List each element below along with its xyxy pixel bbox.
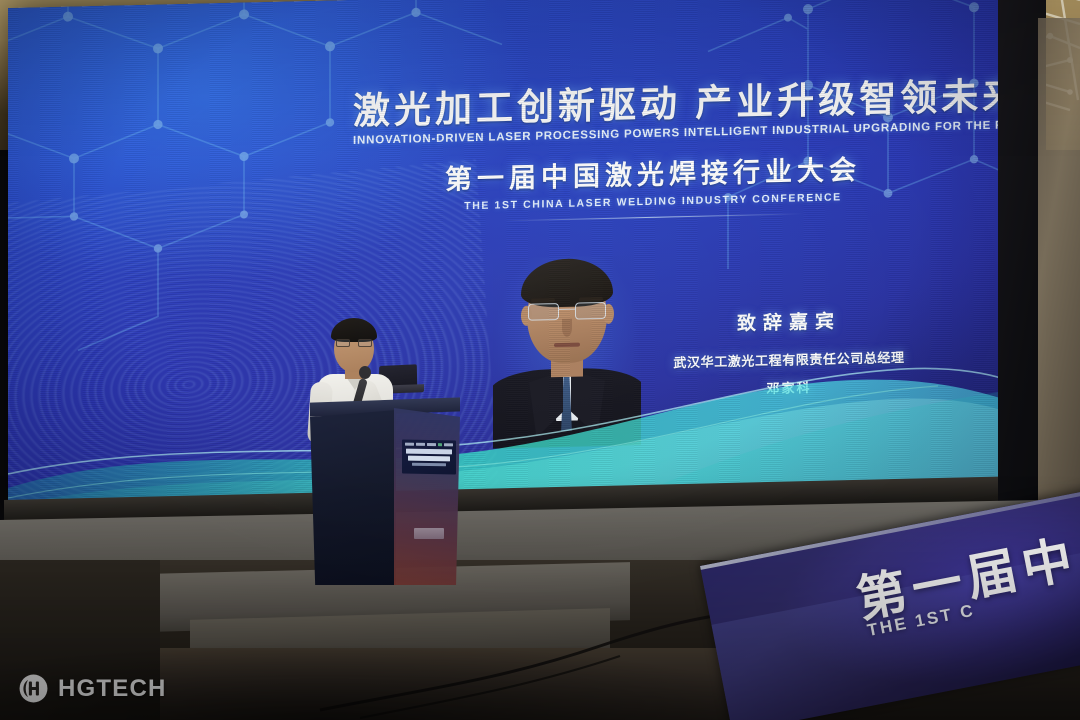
- screen-title-block: 激光加工创新驱动 产业升级智领未来 INNOVATION-DRIVEN LASE…: [353, 78, 953, 225]
- sponsor-logo-accent: [438, 443, 442, 446]
- led-stage-screen: 激光加工创新驱动 产业升级智领未来 INNOVATION-DRIVEN LASE…: [8, 0, 1008, 520]
- podium-body-left: [310, 410, 396, 585]
- speaker-role-label: 致辞嘉宾: [653, 304, 925, 337]
- conference-photo-scene: 激光加工创新驱动 产业升级智领未来 INNOVATION-DRIVEN LASE…: [0, 0, 1080, 720]
- podium: [310, 400, 460, 585]
- sponsor-logo: [405, 443, 414, 446]
- hgtech-logo-icon: [18, 673, 49, 704]
- presenter-lens-right: [358, 339, 372, 347]
- podium-sponsor-logo-strip: [405, 442, 453, 447]
- portrait-mouth: [554, 343, 580, 348]
- podium-lower-mark: [414, 528, 444, 539]
- microphone-head: [359, 366, 371, 379]
- sponsor-logo: [427, 443, 436, 446]
- right-beige-column: [1038, 18, 1080, 563]
- podium-body-right: [394, 408, 460, 585]
- podium-banner-line-slogan: [406, 449, 452, 454]
- podium-banner-line-title: [408, 456, 450, 462]
- presenter-lens-left: [336, 339, 350, 347]
- hgtech-watermark: HGTECH: [18, 673, 167, 704]
- podium-banner: [402, 440, 456, 475]
- sponsor-logo: [416, 443, 425, 446]
- glasses-lens-right: [575, 302, 606, 320]
- portrait-eyebrow-left: [531, 298, 555, 303]
- presenter-glasses-icon: [336, 339, 373, 347]
- hgtech-brand-text: HGTECH: [58, 675, 167, 703]
- glasses-bridge: [559, 309, 575, 311]
- portrait-eyebrow-right: [579, 297, 603, 302]
- sponsor-logo: [444, 443, 453, 446]
- glasses-lens-left: [528, 303, 559, 321]
- podium-banner-line-subtitle: [412, 463, 446, 466]
